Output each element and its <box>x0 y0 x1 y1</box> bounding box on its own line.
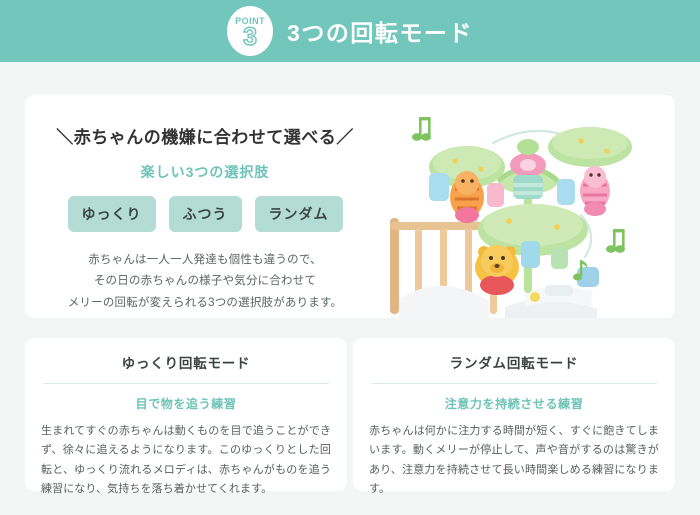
point-badge-number: 3 <box>243 25 257 50</box>
hero-image-column <box>385 95 675 318</box>
hero-body-line-3: メリーの回転が変えられる3つの選択肢があります。 <box>25 293 385 314</box>
hero-card: ＼赤ちゃんの機嫌に合わせて選べる／ 楽しい3つの選択肢 ゆっくり ふつう ランダ… <box>25 95 675 318</box>
baby-mobile-illustration <box>385 95 675 318</box>
mode-card-slow-body: 生まれてすぐの赤ちゃんは動くものを目で追うことができず、徐々に追えるようになりま… <box>41 422 331 499</box>
hero-lead-subtitle: 楽しい3つの選択肢 <box>25 162 385 182</box>
hero-body-line-1: 赤ちゃんは一人一人発達も個性も違うので、 <box>25 250 385 271</box>
mode-pill-slow[interactable]: ゆっくり <box>68 196 156 232</box>
mode-pill-random[interactable]: ランダム <box>255 196 343 232</box>
point-badge: POINT 3 <box>227 6 273 56</box>
hero-body-text: 赤ちゃんは一人一人発達も個性も違うので、 その日の赤ちゃんの様子や気分に合わせて… <box>25 250 385 314</box>
pooh-character <box>475 245 519 295</box>
mode-card-random-divider <box>371 383 657 384</box>
hero-body-line-2: その日の赤ちゃんの様子や気分に合わせて <box>25 271 385 292</box>
mode-pill-group: ゆっくり ふつう ランダム <box>25 196 385 232</box>
mode-card-slow-divider <box>43 383 329 384</box>
page-title: 3つの回転モード <box>287 14 473 48</box>
mode-card-slow-title: ゆっくり回転モード <box>41 352 331 372</box>
mode-card-random-title: ランダム回転モード <box>369 352 659 372</box>
mode-card-slow-subtitle: 目で物を追う練習 <box>41 395 331 412</box>
mode-card-random-subtitle: 注意力を持続させる練習 <box>369 395 659 412</box>
mode-card-slow: ゆっくり回転モード 目で物を追う練習 生まれてすぐの赤ちゃんは動くものを目で追う… <box>25 338 347 491</box>
mode-card-random-body: 赤ちゃんは何かに注力する時間が短く、すぐに飽きてしまいます。動くメリーが停止して… <box>369 422 659 499</box>
hero-text-column: ＼赤ちゃんの機嫌に合わせて選べる／ 楽しい3つの選択肢 ゆっくり ふつう ランダ… <box>25 95 385 318</box>
mode-pill-normal[interactable]: ふつう <box>169 196 242 232</box>
page-header: POINT 3 3つの回転モード <box>0 0 700 62</box>
hero-lead-title: ＼赤ちゃんの機嫌に合わせて選べる／ <box>25 123 385 148</box>
mode-card-random: ランダム回転モード 注意力を持続させる練習 赤ちゃんは何かに注力する時間が短く、… <box>353 338 675 491</box>
